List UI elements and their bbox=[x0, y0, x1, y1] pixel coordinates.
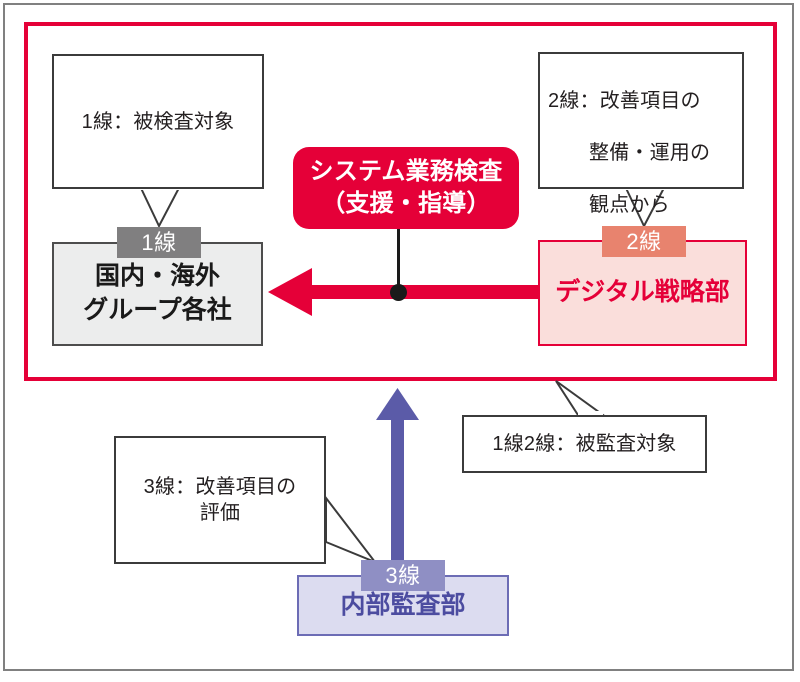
callout-line2-line2: 整備・運用の bbox=[548, 140, 710, 166]
tag-line3: 3線 bbox=[361, 560, 445, 591]
callout-line1-text: 1線：被検査対象 bbox=[82, 109, 235, 135]
entity-digital-strategy-label: デジタル戦略部 bbox=[555, 276, 730, 310]
diagram-canvas: 1線：被検査対象 2線：改善項目の 整備・運用の 観点から 支援・指導 1線2線… bbox=[0, 0, 800, 682]
audit-arrow-up bbox=[376, 388, 419, 575]
callout-3-tail bbox=[556, 381, 603, 415]
callout-4-tail bbox=[326, 498, 375, 562]
tag-line1: 1線 bbox=[117, 227, 201, 258]
entity-internal-audit-label: 内部監査部 bbox=[340, 589, 465, 623]
callout-line2-support: 2線：改善項目の 整備・運用の 観点から 支援・指導 bbox=[538, 52, 744, 189]
callout-1-tail bbox=[140, 186, 180, 226]
badge-connector-stem bbox=[397, 229, 400, 291]
callout-line2-line1: 2線：改善項目の bbox=[548, 90, 701, 112]
callout-line12-text: 1線2線：被監査対象 bbox=[492, 431, 676, 457]
system-inspection-badge: システム業務検査 （支援・指導） bbox=[293, 147, 519, 229]
tag-line2: 2線 bbox=[602, 226, 686, 257]
entity-group-companies-label: 国内・海外 グループ各社 bbox=[83, 260, 232, 328]
callout-line12-audited: 1線2線：被監査対象 bbox=[462, 415, 707, 473]
connector-junction-dot bbox=[390, 284, 407, 301]
callout-line1-inspection: 1線：被検査対象 bbox=[52, 54, 264, 189]
callout-line3-evaluation: 3線：改善項目の 評価 bbox=[114, 436, 326, 564]
system-inspection-badge-label: システム業務検査 （支援・指導） bbox=[310, 156, 503, 219]
callout-line3-text: 3線：改善項目の 評価 bbox=[144, 474, 297, 526]
callout-line2-line3: 観点から bbox=[548, 192, 710, 218]
